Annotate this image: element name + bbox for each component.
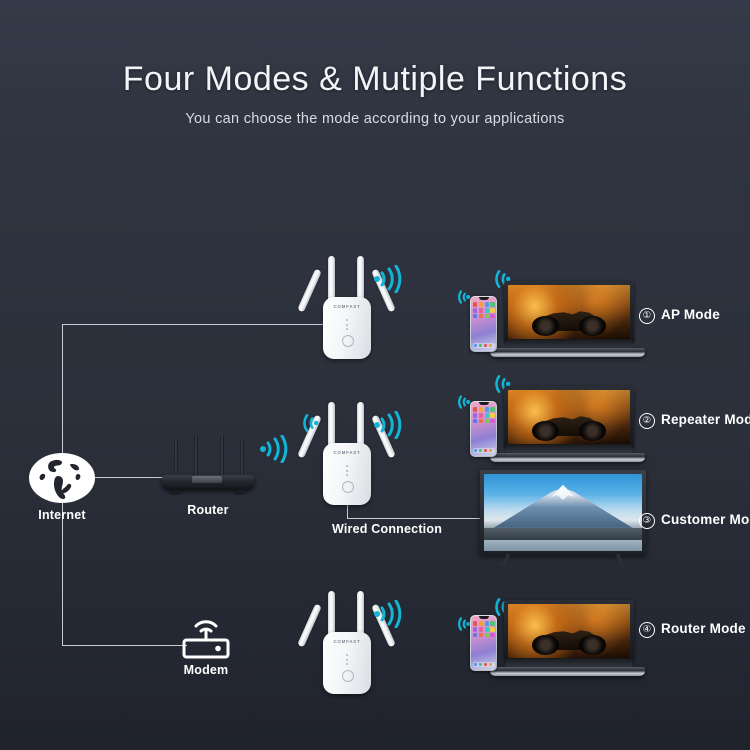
phone-app-grid <box>473 302 495 318</box>
wifi-signal-icon <box>372 411 406 439</box>
router-label: Router <box>168 503 248 517</box>
wifi-extender-repeater-in <box>294 412 320 439</box>
laptop-lid <box>504 281 634 343</box>
wired-connection-label: Wired Connection <box>332 522 452 536</box>
phone-ap-mode <box>470 296 497 352</box>
wifi-signal-icon <box>452 289 471 305</box>
connector-trunk-to-modem <box>62 645 187 646</box>
header: Four Modes & Mutiple Functions You can c… <box>0 60 750 127</box>
mode-label-router: ④Router Mode <box>639 621 746 638</box>
extender-antenna <box>297 269 322 313</box>
phone-frame <box>470 296 497 352</box>
mode-text-3: Customer Mode <box>661 512 750 527</box>
extender-power-button[interactable] <box>342 481 354 493</box>
wifi-extender-repeater-out <box>372 411 406 444</box>
phone-screen <box>471 616 495 669</box>
wifi-router <box>258 435 292 468</box>
wifi-to-phone-4 <box>452 616 471 637</box>
tv-panel <box>480 470 646 555</box>
phone-dock <box>473 662 495 667</box>
wifi-signal-icon <box>258 435 292 463</box>
wifi-extender-ap-out <box>372 265 406 298</box>
modem-label: Modem <box>166 663 246 677</box>
laptop-screen <box>508 604 630 658</box>
wifi-signal-icon <box>372 265 406 293</box>
laptop-keyboard <box>506 340 632 348</box>
globe-icon <box>28 452 96 504</box>
extender-body: COMFAST <box>323 443 371 505</box>
mode-number-1: ① <box>639 308 655 324</box>
phone-frame <box>470 401 497 457</box>
mode-label-ap: ①AP Mode <box>639 307 720 324</box>
internet-node <box>28 452 96 509</box>
tv-screen <box>484 474 642 551</box>
wifi-to-phone-2 <box>452 394 471 415</box>
phone-router-mode <box>470 615 497 671</box>
laptop-ap-mode <box>490 281 645 357</box>
screen-content-motorcycle <box>508 604 630 658</box>
page-title: Four Modes & Mutiple Functions <box>0 60 750 99</box>
mode-number-2: ② <box>639 413 655 429</box>
extender-leds <box>346 465 348 479</box>
extender-leds <box>346 319 348 333</box>
laptop-screen <box>508 285 630 339</box>
phone-notch <box>479 616 489 619</box>
router-foot <box>169 491 182 495</box>
mode-number-3: ③ <box>639 513 655 529</box>
phone-dock <box>473 448 495 453</box>
extender-antenna <box>297 604 322 648</box>
laptop-base <box>490 348 645 357</box>
tv-leg <box>502 554 511 566</box>
wifi-extender-router-out <box>372 600 406 633</box>
mode-number-4: ④ <box>639 622 655 638</box>
screen-content-motorcycle <box>508 390 630 444</box>
mode-text-4: Router Mode <box>661 621 746 636</box>
extender-leds <box>346 654 348 668</box>
laptop-lid <box>504 600 634 662</box>
mode-label-customer: ③Customer Mode <box>639 512 750 529</box>
connector-internet-to-router <box>90 477 166 478</box>
phone-repeater-mode <box>470 401 497 457</box>
laptop-lid <box>504 386 634 448</box>
laptop-router-mode <box>490 600 645 676</box>
wifi-signal-icon <box>452 616 471 632</box>
phone-screen <box>471 402 495 455</box>
phone-screen <box>471 297 495 350</box>
screen-content-mountain <box>484 474 642 551</box>
laptop-keyboard <box>506 659 632 667</box>
modem-icon <box>178 612 234 662</box>
tv-customer-mode <box>480 470 646 566</box>
phone-app-grid <box>473 407 495 423</box>
phone-notch <box>479 402 489 405</box>
laptop-screen <box>508 390 630 444</box>
extender-body: COMFAST <box>323 632 371 694</box>
wifi-signal-icon <box>372 600 406 628</box>
connector-internet-to-ap <box>62 324 324 325</box>
phone-app-grid <box>473 621 495 637</box>
mode-label-repeater: ②Repeater Mode <box>639 412 750 429</box>
laptop-base <box>490 667 645 676</box>
extender-brand: COMFAST <box>323 304 371 309</box>
extender-body: COMFAST <box>323 297 371 359</box>
router-top-plate <box>192 476 222 483</box>
screen-content-motorcycle <box>508 285 630 339</box>
wifi-signal-icon <box>452 394 471 410</box>
extender-brand: COMFAST <box>323 450 371 455</box>
phone-dock <box>473 343 495 348</box>
extender-power-button[interactable] <box>342 670 354 682</box>
wifi-signal-icon <box>294 412 320 434</box>
tv-leg <box>616 554 625 566</box>
wifi-to-phone-1 <box>452 289 471 310</box>
extender-power-button[interactable] <box>342 335 354 347</box>
router-node <box>162 434 254 496</box>
mode-text-2: Repeater Mode <box>661 412 750 427</box>
laptop-repeater-mode <box>490 386 645 462</box>
modem-node <box>178 612 234 667</box>
router-foot <box>233 491 246 495</box>
page-subtitle: You can choose the mode according to you… <box>0 111 750 127</box>
laptop-keyboard <box>506 445 632 453</box>
laptop-base <box>490 453 645 462</box>
phone-frame <box>470 615 497 671</box>
connector-wired-to-tv <box>347 518 480 519</box>
mode-text-1: AP Mode <box>661 307 720 322</box>
extender-brand: COMFAST <box>323 639 371 644</box>
infographic-canvas: Four Modes & Mutiple Functions You can c… <box>0 0 750 750</box>
phone-notch <box>479 297 489 300</box>
internet-label: Internet <box>22 508 102 522</box>
